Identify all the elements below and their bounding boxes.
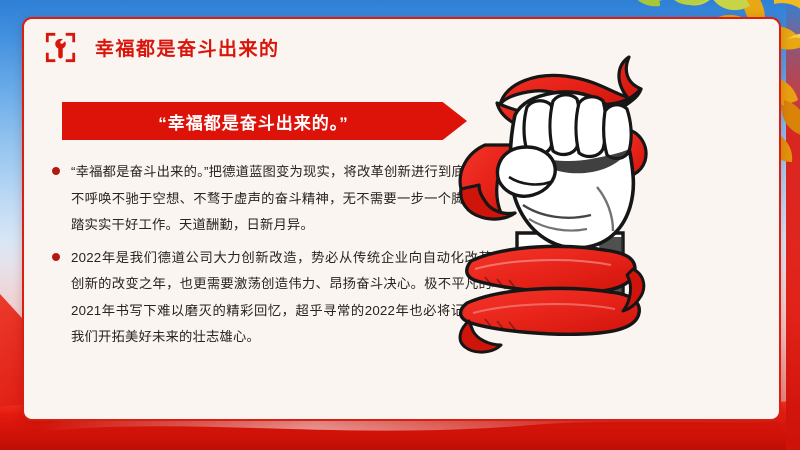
raised-fist-with-ribbon-illustration [445, 37, 745, 392]
wrench-in-bracket-icon [44, 31, 77, 64]
content-card: 幸福都是奋斗出来的 “幸福都是奋斗出来的。” “幸福都是奋斗出来的。”把德道蓝图… [22, 17, 781, 421]
page-title: 幸福都是奋斗出来的 [95, 34, 280, 61]
list-item-text: “幸福都是奋斗出来的。”把德道蓝图变为现实，将改革创新进行到底，无不呼唤不驰于空… [71, 159, 492, 239]
red-round-bullet-icon [52, 253, 60, 261]
body-text-block: “幸福都是奋斗出来的。”把德道蓝图变为现实，将改革创新进行到底，无不呼唤不驰于空… [52, 159, 492, 357]
slide-canvas: 幸福都是奋斗出来的 “幸福都是奋斗出来的。” “幸福都是奋斗出来的。”把德道蓝图… [0, 0, 800, 450]
quote-banner-text: “幸福都是奋斗出来的。” [62, 102, 467, 140]
list-item: 2022年是我们德道公司大力创新改造，势必从传统企业向自动化改革创新的改变之年，… [52, 245, 492, 351]
list-item-text: 2022年是我们德道公司大力创新改造，势必从传统企业向自动化改革创新的改变之年，… [71, 245, 492, 351]
right-edge-red-band-decoration [786, 0, 800, 450]
quote-banner: “幸福都是奋斗出来的。” [62, 102, 467, 140]
red-round-bullet-icon [52, 167, 60, 175]
list-item: “幸福都是奋斗出来的。”把德道蓝图变为现实，将改革创新进行到底，无不呼唤不驰于空… [52, 159, 492, 239]
